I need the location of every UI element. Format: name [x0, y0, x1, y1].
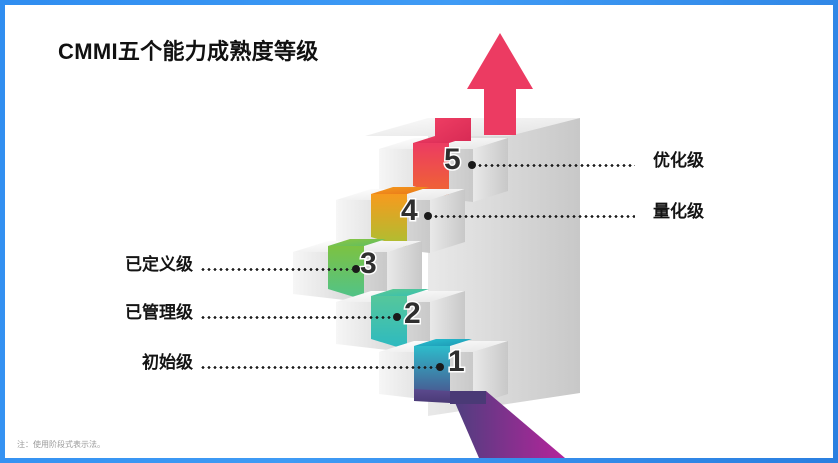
- step-number-1: 1: [448, 347, 465, 377]
- leader-line-level-1: [200, 366, 436, 369]
- level-label-3: 已定义级: [43, 250, 193, 275]
- cmmi-staircase-diagram: [5, 5, 833, 458]
- leader-dot-level-3: [352, 265, 360, 273]
- level-label-2: 已管理级: [43, 298, 193, 323]
- step-number-4: 4: [401, 196, 418, 226]
- step-number-2: 2: [404, 299, 421, 329]
- leader-line-level-2: [200, 316, 393, 319]
- leader-dot-level-5: [468, 161, 476, 169]
- step-number-3: 3: [360, 249, 377, 279]
- level-label-5: 优化级: [653, 146, 813, 171]
- leader-dot-level-2: [393, 313, 401, 321]
- level-label-1: 初始级: [43, 348, 193, 373]
- footnote: 注：使用阶段式表示法。: [17, 439, 105, 450]
- leader-line-level-5: [477, 164, 635, 167]
- leader-line-level-4: [433, 215, 635, 218]
- leader-dot-level-1: [436, 363, 444, 371]
- base-ribbon: [414, 389, 565, 458]
- slide-frame: CMMI五个能力成熟度等级: [0, 0, 838, 463]
- leader-dot-level-4: [424, 212, 432, 220]
- step-number-5: 5: [444, 145, 461, 175]
- slide-canvas: CMMI五个能力成熟度等级: [5, 5, 833, 458]
- leader-line-level-3: [200, 268, 352, 271]
- level-label-4: 量化级: [653, 197, 813, 222]
